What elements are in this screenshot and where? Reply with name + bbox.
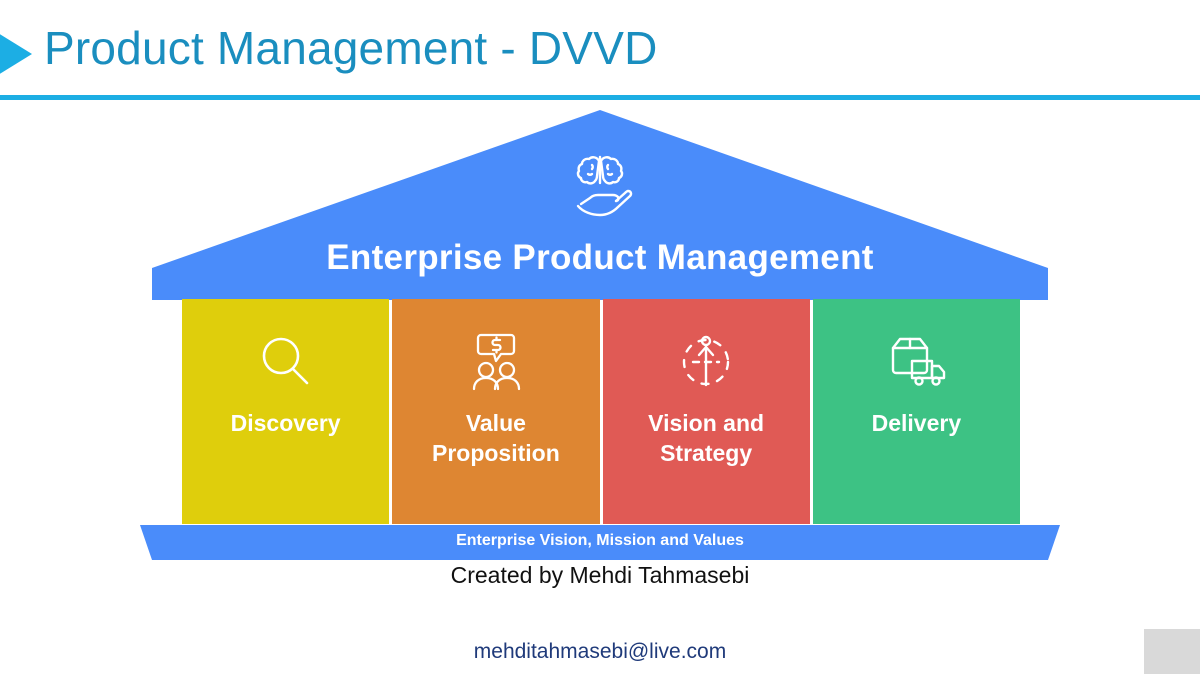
- pillar-delivery[interactable]: Delivery: [813, 299, 1020, 524]
- pillar-discovery[interactable]: Discovery: [182, 299, 389, 524]
- diagram-roof: Enterprise Product Management: [152, 110, 1048, 300]
- pillar-label: Value Proposition: [426, 409, 566, 469]
- value-speech-people-icon: [459, 329, 533, 395]
- roof-label: Enterprise Product Management: [152, 238, 1048, 278]
- brain-in-hand-icon: [556, 148, 644, 220]
- foundation-label: Enterprise Vision, Mission and Values: [140, 532, 1060, 550]
- house-diagram: Enterprise Product Management Discovery: [0, 100, 1200, 570]
- credit-line: Created by Mehdi Tahmasebi: [0, 562, 1200, 589]
- right-triangle-icon: [0, 33, 32, 75]
- slide-header: Product Management - DVVD: [0, 0, 1200, 100]
- corner-placeholder: [1144, 629, 1200, 674]
- page-title: Product Management - DVVD: [44, 21, 658, 75]
- diagram-foundation: Enterprise Vision, Mission and Values: [140, 525, 1060, 560]
- magnifying-glass-icon: [249, 329, 323, 395]
- contact-email: mehditahmasebi@live.com: [0, 640, 1200, 664]
- target-arrow-person-icon: [669, 329, 743, 395]
- pillar-vision-and-strategy[interactable]: Vision and Strategy: [603, 299, 810, 524]
- pillar-label: Discovery: [225, 409, 347, 439]
- diagram-pillars: Discovery Value Proposition: [182, 299, 1020, 524]
- box-truck-icon: [879, 329, 953, 395]
- pillar-label: Delivery: [866, 409, 968, 439]
- pillar-label: Vision and Strategy: [642, 409, 770, 469]
- pillar-value-proposition[interactable]: Value Proposition: [392, 299, 599, 524]
